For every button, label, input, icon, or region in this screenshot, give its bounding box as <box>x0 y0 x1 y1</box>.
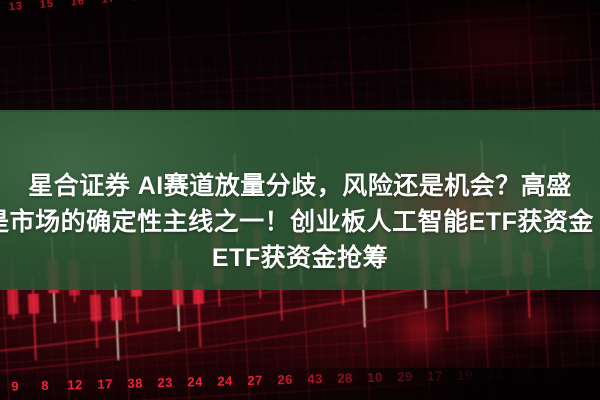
headline-text: 星合证券 AI赛道放量分歧，风险还是机会？高盛 是市场的确定性主线之一！创业板人… <box>0 168 600 276</box>
headline-line-1: 星合证券 AI赛道放量分歧，风险还是机会？高盛 <box>0 168 600 204</box>
news-banner-image: 13151617192022232528302726 9812173823242… <box>0 0 600 400</box>
headline-line-2: 是市场的确定性主线之一！创业板人工智能ETF获资金 <box>0 204 600 240</box>
headline-line-3: ETF获资金抢筹 <box>0 240 600 276</box>
